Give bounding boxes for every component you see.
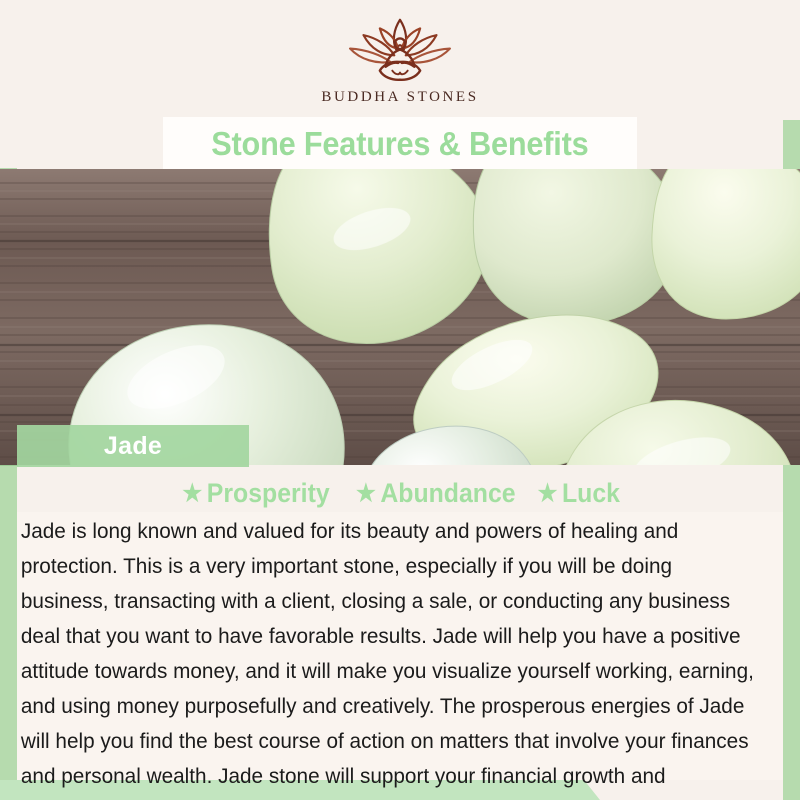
benefit-label: Abundance <box>380 478 515 509</box>
benefit-item-luck: ★ Luck <box>538 478 620 509</box>
description-text: Jade is long known and valued for its be… <box>17 514 760 800</box>
star-icon: ★ <box>538 482 558 506</box>
brand-name: BUDDHA STONES <box>321 89 478 106</box>
infographic-card: BUDDHA STONES Stone Features & Benefits <box>0 0 800 800</box>
star-icon: ★ <box>355 482 375 506</box>
section-title-banner: Stone Features & Benefits <box>163 117 637 169</box>
brand-header: BUDDHA STONES <box>0 0 800 120</box>
logo-lockup: BUDDHA STONES <box>0 14 800 106</box>
stone-name-badge: Jade <box>17 425 249 467</box>
benefit-label: Prosperity <box>207 478 330 509</box>
stone-photo-art <box>0 169 800 465</box>
stone-photo <box>0 169 800 465</box>
benefit-item-prosperity: ★ Prosperity <box>183 478 330 509</box>
benefits-row: ★ Prosperity ★ Abundance ★ Luck <box>0 478 800 509</box>
page-title: Stone Features & Benefits <box>211 127 588 160</box>
star-icon: ★ <box>183 482 203 506</box>
benefit-label: Luck <box>562 478 620 509</box>
benefit-item-abundance: ★ Abundance <box>355 478 515 509</box>
stone-name: Jade <box>104 432 162 461</box>
lotus-meditation-icon <box>340 14 460 86</box>
